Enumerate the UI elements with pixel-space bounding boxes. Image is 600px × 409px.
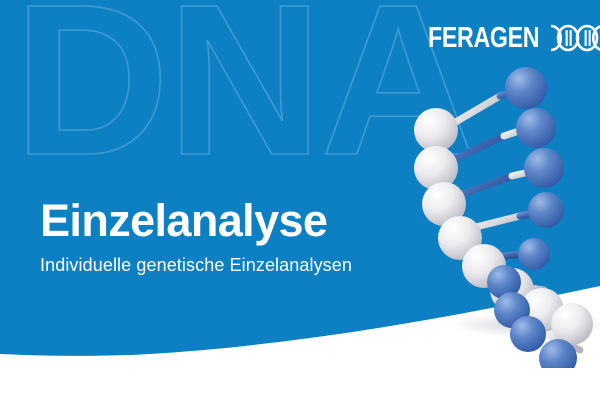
page-title: Einzelanalyse	[40, 194, 460, 248]
dna-helix-logo-icon	[548, 23, 600, 53]
headline-block: Einzelanalyse Individuelle genetische Ei…	[40, 194, 460, 276]
feragen-wordmark: FERAGEN	[428, 24, 539, 53]
feragen-logo[interactable]: FERAGEN	[428, 18, 600, 58]
feragen-einzelanalyse-banner: DNA FERAGEN Einzelanalyse Individuelle g…	[0, 0, 600, 409]
page-subtitle: Individuelle genetische Einzelanalysen	[40, 254, 460, 276]
